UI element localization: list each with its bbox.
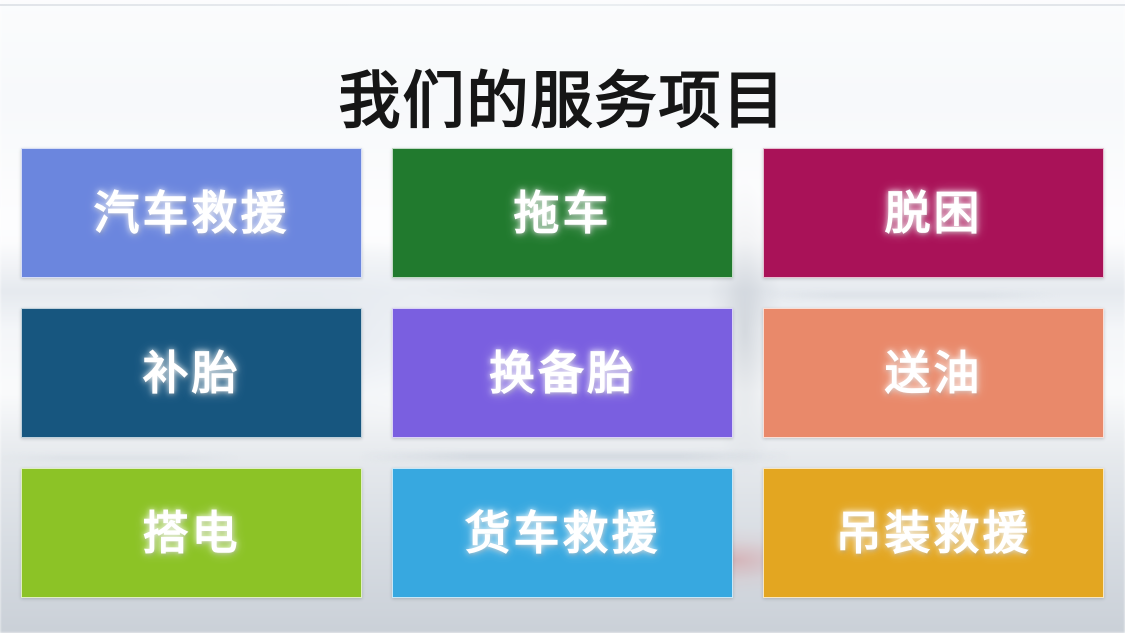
service-tile-jump-start[interactable]: 搭电 <box>21 468 362 598</box>
service-tile-label: 汽车救援 <box>94 187 290 239</box>
page-title: 我们的服务项目 <box>0 64 1125 138</box>
service-poster: 我们的服务项目 汽车救援 拖车 脱困 补胎 换备胎 送油 搭电 货车救援 吊装救… <box>0 0 1125 633</box>
service-tile-label: 补胎 <box>143 347 241 399</box>
service-tile-label: 送油 <box>885 347 983 399</box>
service-tile-label: 搭电 <box>143 507 241 559</box>
service-tile-label: 货车救援 <box>465 507 661 559</box>
top-divider <box>0 4 1125 6</box>
service-tile-fuel-delivery[interactable]: 送油 <box>763 308 1104 438</box>
service-tile-label: 换备胎 <box>489 347 636 399</box>
service-tile-label: 吊装救援 <box>836 507 1032 559</box>
service-tile-extrication[interactable]: 脱困 <box>763 148 1104 278</box>
service-tile-tire-repair[interactable]: 补胎 <box>21 308 362 438</box>
service-tile-label: 拖车 <box>514 187 612 239</box>
service-tile-tow-truck[interactable]: 拖车 <box>392 148 733 278</box>
service-tile-spare-tire[interactable]: 换备胎 <box>392 308 733 438</box>
service-tile-truck-rescue[interactable]: 货车救援 <box>392 468 733 598</box>
service-tile-car-rescue[interactable]: 汽车救援 <box>21 148 362 278</box>
service-grid: 汽车救援 拖车 脱困 补胎 换备胎 送油 搭电 货车救援 吊装救援 <box>21 148 1105 598</box>
service-tile-hoisting-rescue[interactable]: 吊装救援 <box>763 468 1104 598</box>
service-tile-label: 脱困 <box>885 187 983 239</box>
